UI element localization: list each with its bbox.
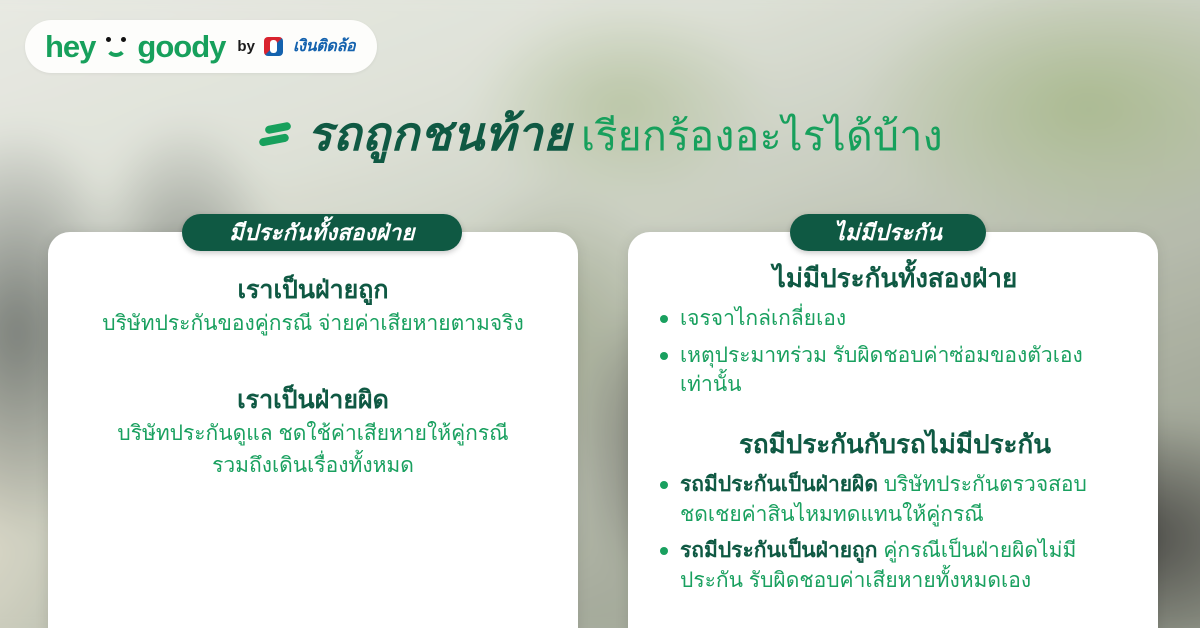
section-we-are-right: เราเป็นฝ่ายถูก บริษัทประกันของคู่กรณี จ่… [70, 272, 556, 340]
section-line: รวมถึงเดินเรื่องทั้งหมด [70, 450, 556, 482]
page-title: รถถูกชนท้าย เรียกร้องอะไรได้บ้าง [0, 108, 1200, 160]
logo-goody-text: goody [137, 31, 225, 62]
list-item: รถมีประกันเป็นฝ่ายผิด บริษัทประกันตรวจสอ… [658, 470, 1132, 530]
brand-logo: hey goody by เงินติดล้อ [25, 20, 377, 73]
list-item: รถมีประกันเป็นฝ่ายถูก คู่กรณีเป็นฝ่ายผิด… [658, 536, 1132, 596]
badge-no-insurance: ไม่มีประกัน [790, 214, 986, 251]
section-insured-vs-uninsured: รถมีประกันกับรถไม่มีประกัน รถมีประกันเป็… [658, 426, 1132, 596]
bullet-list: เจรจาไกล่เกลี่ยเอง เหตุประมาทร่วม รับผิด… [658, 304, 1132, 400]
page-title-strong: รถถูกชนท้าย [307, 108, 571, 160]
page-title-light: เรียกร้องอะไรได้บ้าง [581, 114, 943, 159]
section-line: บริษัทประกันของคู่กรณี จ่ายค่าเสียหายตาม… [70, 308, 556, 340]
bullet-emphasis: รถมีประกันเป็นฝ่ายถูก [680, 539, 878, 562]
card-no-insurance: ไม่มีประกันทั้งสองฝ่าย เจรจาไกล่เกลี่ยเอ… [628, 232, 1158, 628]
badge-label: มีประกันทั้งสองฝ่าย [229, 215, 414, 250]
list-item: เหตุประมาทร่วม รับผิดชอบค่าซ่อมของตัวเอง… [658, 341, 1132, 401]
section-both-uninsured: ไม่มีประกันทั้งสองฝ่าย เจรจาไกล่เกลี่ยเอ… [658, 260, 1132, 400]
badge-label: ไม่มีประกัน [834, 215, 942, 250]
bullet-text: เจรจาไกล่เกลี่ยเอง [680, 307, 846, 330]
section-title: ไม่มีประกันทั้งสองฝ่าย [658, 260, 1132, 298]
logo-by-text: by [237, 38, 255, 55]
smile-icon [105, 36, 127, 58]
bullet-emphasis: รถมีประกันเป็นฝ่ายผิด [680, 473, 878, 496]
card-both-insured: เราเป็นฝ่ายถูก บริษัทประกันของคู่กรณี จ่… [48, 232, 578, 628]
bullet-text: เหตุประมาทร่วม รับผิดชอบค่าซ่อมของตัวเอง… [680, 344, 1083, 397]
section-we-are-wrong: เราเป็นฝ่ายผิด บริษัทประกันดูแล ชดใช้ค่า… [70, 382, 556, 481]
section-line: บริษัทประกันดูแล ชดใช้ค่าเสียหายให้คู่กร… [70, 418, 556, 450]
logo-partner-text: เงินติดล้อ [293, 34, 355, 59]
section-title: เราเป็นฝ่ายผิด [70, 382, 556, 418]
logo-hey-text: hey [45, 31, 95, 62]
section-title: เราเป็นฝ่ายถูก [70, 272, 556, 308]
tidlor-logo-icon [264, 37, 283, 56]
double-slash-mark-icon [257, 117, 293, 151]
list-item: เจรจาไกล่เกลี่ยเอง [658, 304, 1132, 334]
badge-both-insured: มีประกันทั้งสองฝ่าย [182, 214, 462, 251]
bullet-list: รถมีประกันเป็นฝ่ายผิด บริษัทประกันตรวจสอ… [658, 470, 1132, 596]
section-title: รถมีประกันกับรถไม่มีประกัน [658, 426, 1132, 464]
